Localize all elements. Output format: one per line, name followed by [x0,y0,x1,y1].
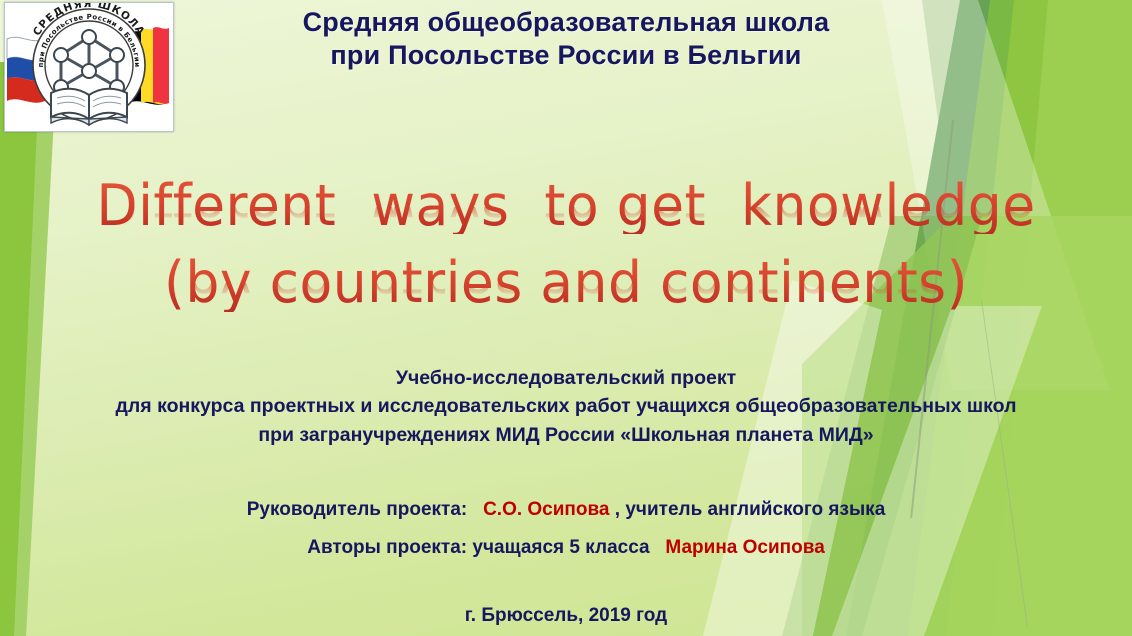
supervisor-label: Руководитель проекта: [247,499,468,520]
supervisor-row: Руководитель проекта: С.О. Осипова , учи… [0,500,1132,521]
supervisor-name: С.О. Осипова [483,499,609,520]
title-line-2-group: (by countries and continents) (by countr… [0,255,1132,334]
title-line-2-reflection: (by countries and continents) [34,283,1098,309]
title-line-1: Different ways to get knowledge [34,178,1098,234]
slide-footer: г. Брюссель, 2019 год [0,605,1132,627]
title-line-1-reflection: Different ways to get knowledge [34,207,1098,233]
facet-hairline-1 [910,120,954,518]
authors-label: Авторы проекта: учащаяся 5 класса [307,537,649,558]
supervisor-role: , учитель английского языка [615,499,885,520]
subtitle-line-2: для конкурса проектных и исследовательск… [0,392,1132,420]
footer-text: г. Брюссель, 2019 год [465,605,667,626]
facet-shape-highlight-mid [702,280,952,636]
subtitle-line-3: при загранучреждениях МИД России «Школьн… [0,421,1132,449]
school-logo: СРЕДНЯЯ ШКОЛА при Посольстве России в Бе… [4,2,174,132]
title-line-1-group: Different ways to get knowledge Differen… [0,178,1132,259]
title-line-2: (by countries and continents) [34,255,1098,311]
authors-block: Руководитель проекта: С.О. Осипова , учи… [0,500,1132,576]
subtitle-line-1: Учебно-исследовательский проект [0,364,1132,392]
school-emblem-icon: СРЕДНЯЯ ШКОЛА при Посольстве России в Бе… [5,3,173,131]
facet-shape-highlight-bottom [832,306,1132,636]
facet-shape-dark-top-right [922,0,1132,300]
header-line-2: при Посольстве России в Бельгии [186,39,946,72]
facet-hairline-2 [981,300,1028,627]
author-row: Авторы проекта: учащаяся 5 класса Марина… [0,538,1132,559]
project-subtitle: Учебно-исследовательский проект для конк… [0,364,1132,449]
header-line-1: Средняя общеобразовательная школа [186,6,946,39]
author-name: Марина Осипова [665,537,824,558]
presentation-slide: СРЕДНЯЯ ШКОЛА при Посольстве России в Бе… [0,0,1132,636]
slide-title: Different ways to get knowledge Differen… [0,178,1132,335]
school-header: Средняя общеобразовательная школа при По… [186,6,946,72]
